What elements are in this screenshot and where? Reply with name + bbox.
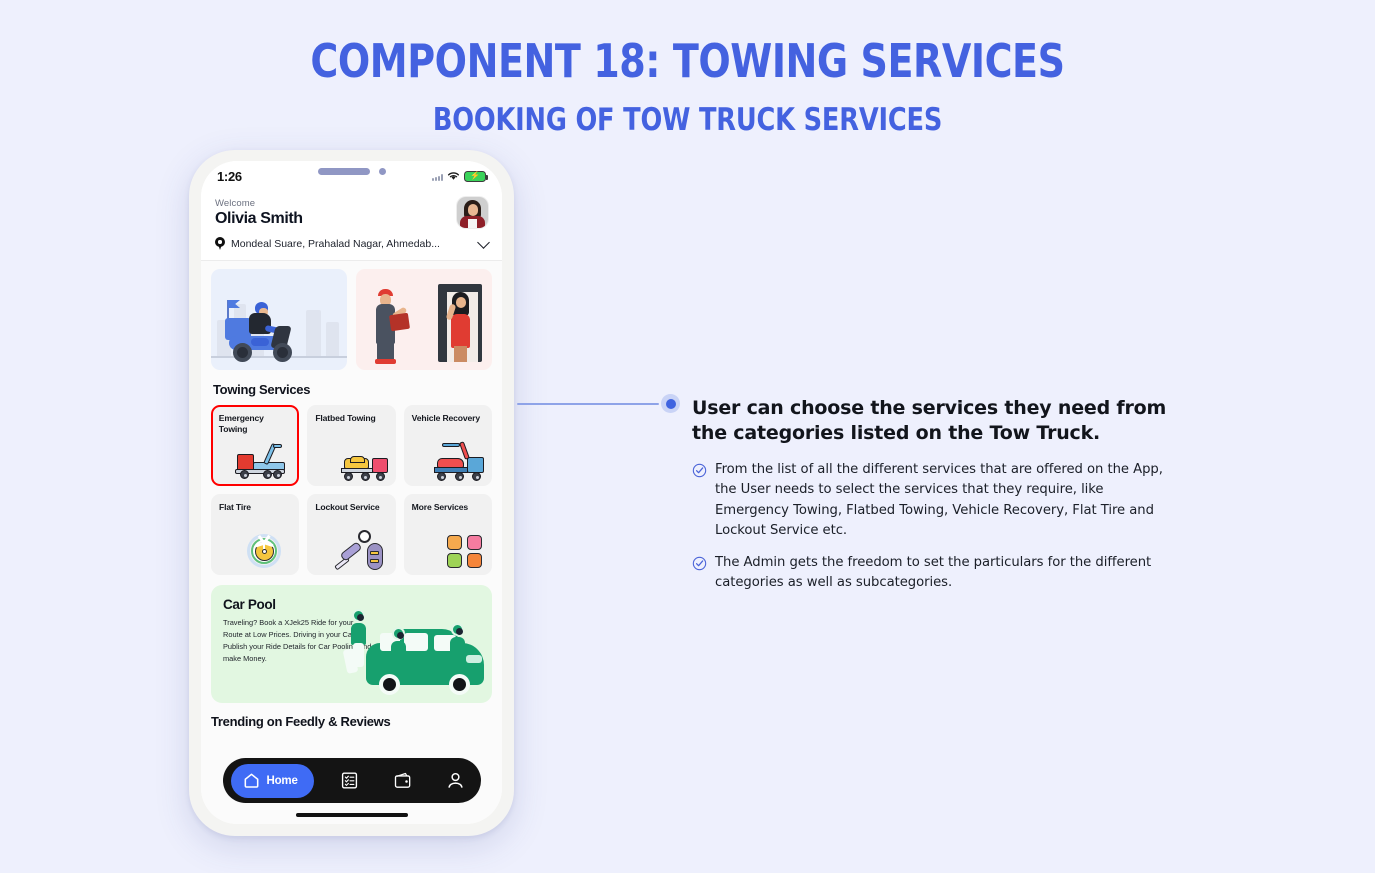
delivery-scooter-banner[interactable] — [211, 269, 347, 370]
service-label: More Services — [412, 502, 485, 513]
notch-camera-dot — [379, 168, 386, 175]
circle-check-icon — [692, 463, 707, 478]
wallet-icon — [393, 771, 413, 790]
person-icon — [446, 771, 465, 790]
map-pin-icon — [215, 237, 225, 251]
home-indicator — [296, 813, 408, 817]
bottom-nav: Home — [223, 758, 481, 803]
location-selector[interactable]: Mondeal Suare, Prahalad Nagar, Ahmedab..… — [215, 228, 488, 260]
location-text: Mondeal Suare, Prahalad Nagar, Ahmedab..… — [231, 238, 473, 250]
flatbed-truck-icon — [332, 441, 390, 481]
service-label: Flat Tire — [219, 502, 292, 513]
service-label: Lockout Service — [315, 502, 388, 513]
notch-bar — [318, 168, 370, 175]
page-subtitle: BOOKING OF TOW TRUCK SERVICES — [55, 102, 1320, 138]
services-grid: Emergency Towing — [211, 405, 492, 575]
page-title: COMPONENT 18: TOWING SERVICES — [55, 34, 1320, 88]
annotation-bullet-text: The Admin gets the freedom to set the pa… — [715, 553, 1172, 593]
tire-icon — [235, 530, 293, 570]
checklist-icon — [340, 771, 359, 790]
welcome-label: Welcome — [215, 198, 303, 209]
grid-squares-icon — [428, 530, 486, 570]
next-section-title: Trending on Feedly & Reviews — [211, 714, 492, 729]
phone-screen: 1:26 ⚡ — [201, 161, 502, 824]
app-header: Welcome Olivia Smith Mondeal Suare, Prah… — [201, 191, 502, 260]
service-label: Emergency Towing — [219, 413, 293, 435]
nav-item-home[interactable]: Home — [231, 764, 314, 798]
status-time: 1:26 — [217, 169, 242, 184]
car-keys-icon — [332, 530, 390, 570]
battery-charging-icon: ⚡ — [464, 171, 486, 182]
nav-item-orders[interactable] — [333, 764, 367, 798]
nav-item-wallet[interactable] — [386, 764, 420, 798]
bottom-nav-wrapper: Home — [201, 758, 502, 803]
signal-bars-icon — [432, 172, 443, 181]
chevron-down-icon[interactable] — [477, 236, 490, 249]
status-icons: ⚡ — [432, 171, 486, 182]
user-name: Olivia Smith — [215, 210, 303, 228]
carpool-card[interactable]: Car Pool Traveling? Book a XJek25 Ride f… — [211, 585, 492, 703]
status-bar: 1:26 ⚡ — [201, 161, 502, 191]
list-item: The Admin gets the freedom to set the pa… — [692, 553, 1172, 593]
service-label: Flatbed Towing — [315, 413, 388, 424]
list-item: From the list of all the different servi… — [692, 460, 1172, 541]
home-icon — [243, 772, 260, 789]
annotation-bullets: From the list of all the different servi… — [692, 460, 1172, 593]
page-root: COMPONENT 18: TOWING SERVICES BOOKING OF… — [0, 0, 1375, 873]
connector-dot — [666, 399, 676, 409]
service-card-more-services[interactable]: More Services — [404, 494, 492, 575]
wifi-icon — [447, 171, 460, 181]
doorstep-delivery-banner[interactable] — [356, 269, 492, 370]
carpool-illustration — [324, 605, 486, 697]
phone-mockup: 1:26 ⚡ — [189, 150, 514, 836]
promo-banners — [211, 269, 492, 370]
screen-content: Towing Services Emergency Towing — [201, 261, 502, 824]
service-card-vehicle-recovery[interactable]: Vehicle Recovery — [404, 405, 492, 486]
section-title: Towing Services — [213, 382, 492, 397]
avatar[interactable] — [457, 197, 488, 228]
service-card-lockout-service[interactable]: Lockout Service — [307, 494, 395, 575]
annotation-bullet-text: From the list of all the different servi… — [715, 460, 1172, 541]
circle-check-icon — [692, 556, 707, 571]
annotation-headline: User can choose the services they need f… — [692, 396, 1172, 446]
service-card-emergency-towing[interactable]: Emergency Towing — [211, 405, 299, 486]
annotation-block: User can choose the services they need f… — [692, 396, 1172, 605]
connector-line — [517, 403, 659, 405]
nav-item-profile[interactable] — [438, 764, 472, 798]
dynamic-island — [318, 168, 386, 175]
vehicle-recovery-icon — [428, 441, 486, 481]
service-label: Vehicle Recovery — [412, 413, 485, 424]
service-card-flat-tire[interactable]: Flat Tire — [211, 494, 299, 575]
service-card-flatbed-towing[interactable]: Flatbed Towing — [307, 405, 395, 486]
nav-home-label: Home — [267, 775, 298, 787]
tow-truck-icon — [233, 439, 291, 479]
